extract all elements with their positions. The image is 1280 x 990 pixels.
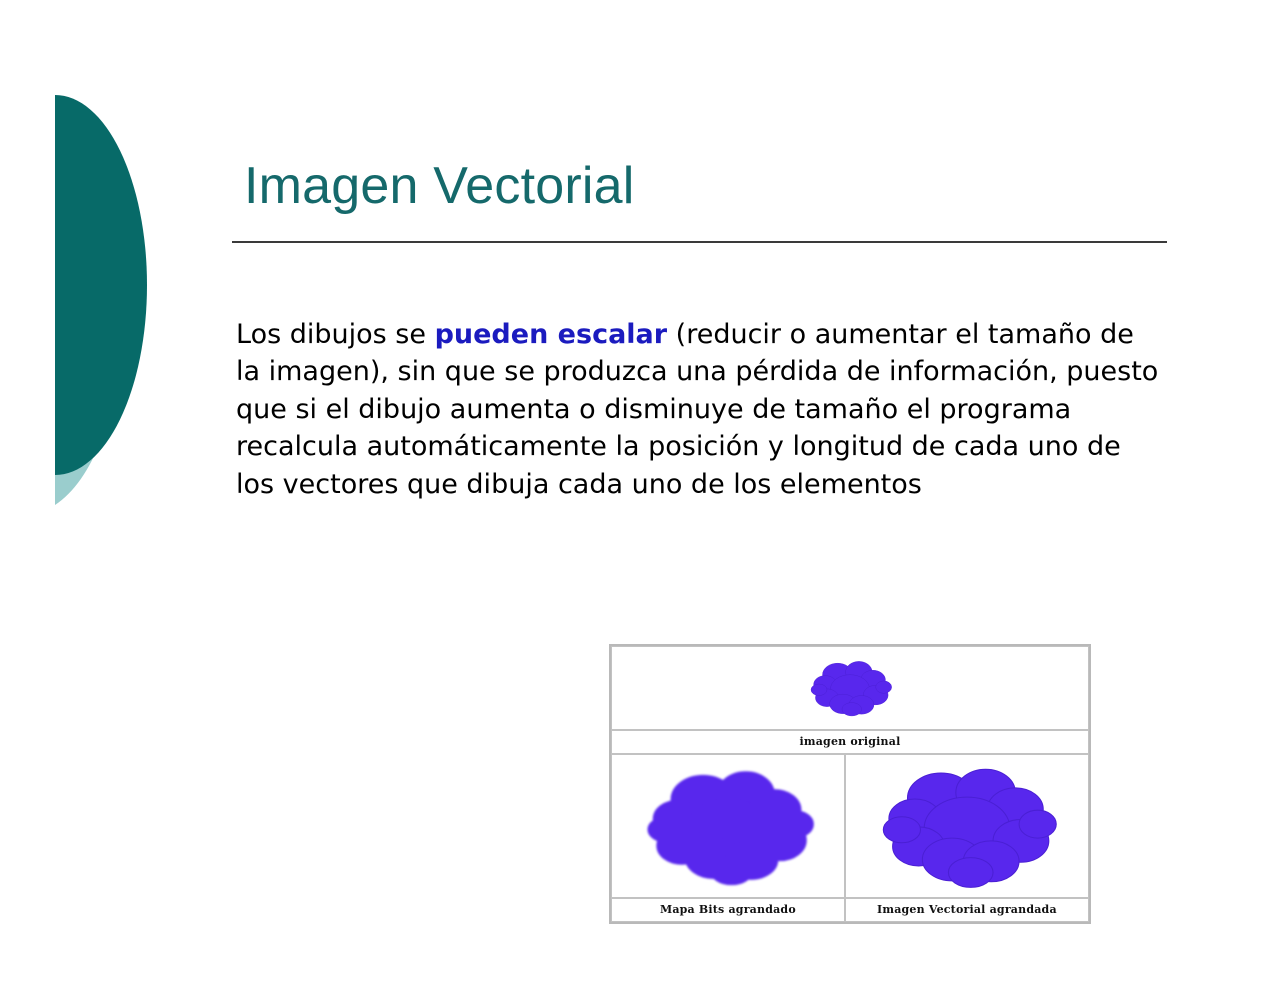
comparison-figure: imagen original xyxy=(609,644,1091,916)
blob-bitmap-enlarged-icon xyxy=(639,760,817,892)
blob-holder-vector xyxy=(846,755,1088,897)
ornament-dark-shape xyxy=(55,95,147,475)
caption-bitmap: Mapa Bits agrandado xyxy=(611,898,845,922)
blob-vector-enlarged-icon xyxy=(874,760,1060,892)
decorative-teal-ornament xyxy=(0,0,220,560)
body-block: Los dibujos se pueden escalar (reducir o… xyxy=(236,316,1161,503)
blob-holder-original xyxy=(612,647,1088,729)
blob-original-icon xyxy=(802,657,898,719)
table-row-original-image xyxy=(611,646,1089,730)
table-row-enlarged-images xyxy=(611,754,1089,898)
title-block: Imagen Vectorial xyxy=(232,158,1167,243)
cell-vector-image xyxy=(845,754,1089,898)
table-row-enlarged-captions: Mapa Bits agrandado Imagen Vectorial agr… xyxy=(611,898,1089,922)
cell-original-image xyxy=(611,646,1089,730)
body-paragraph: Los dibujos se pueden escalar (reducir o… xyxy=(236,316,1161,503)
cell-bitmap-image xyxy=(611,754,845,898)
paragraph-highlight: pueden escalar xyxy=(435,319,668,350)
table-row-original-caption: imagen original xyxy=(611,730,1089,754)
blob-holder-bitmap xyxy=(612,755,844,897)
paragraph-text-before: Los dibujos se xyxy=(236,319,435,350)
caption-vector: Imagen Vectorial agrandada xyxy=(845,898,1089,922)
comparison-table: imagen original xyxy=(609,644,1091,924)
ornament-light-shape xyxy=(55,165,119,505)
caption-original: imagen original xyxy=(611,730,1089,754)
ornament-svg xyxy=(0,0,220,560)
title-divider xyxy=(232,241,1167,243)
page-title: Imagen Vectorial xyxy=(232,158,1167,214)
